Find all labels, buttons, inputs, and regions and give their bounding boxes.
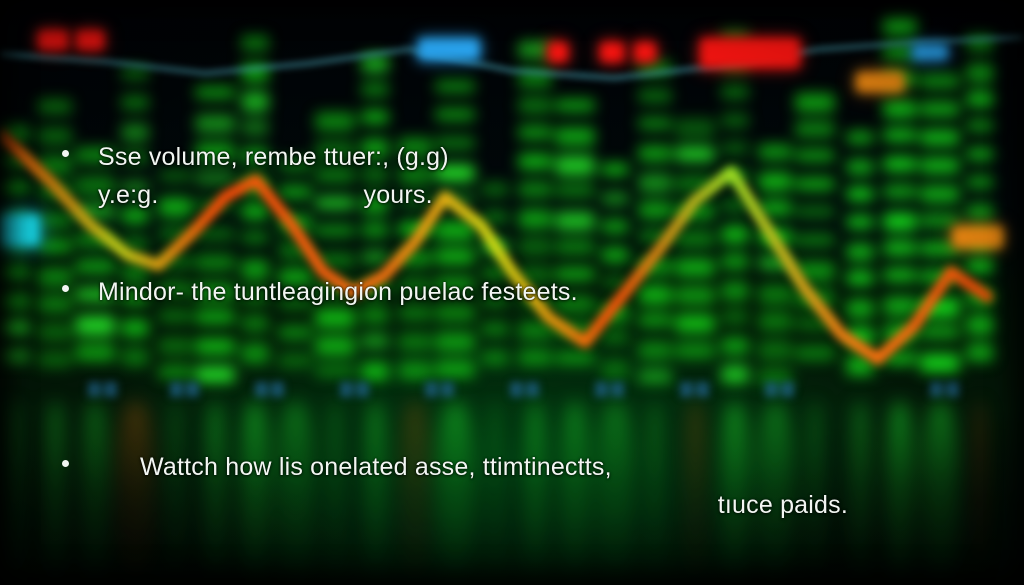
- bullet-text-1: Sse volume, rembe ttuer:, (g.g) y.e:g.yo…: [98, 138, 622, 214]
- bullet-marker-icon: [62, 460, 69, 467]
- slide-canvas: Sse volume, rembe ttuer:, (g.g) y.e:g.yo…: [0, 0, 1024, 585]
- bullet-1-line-2-right: yours.: [364, 181, 433, 209]
- bullet-marker-icon: [62, 285, 69, 292]
- bullet-3-line-2: tıuce paids.: [140, 486, 862, 524]
- bullet-text-3: Wattch how lis onelated asse, ttimtinect…: [140, 448, 862, 524]
- bullet-list: Sse volume, rembe ttuer:, (g.g) y.e:g.yo…: [0, 0, 1024, 585]
- bullet-item-2: Mindor- the tuntleagingion puelac festee…: [62, 273, 822, 311]
- bullet-3-line-1: Wattch how lis onelated asse, ttimtinect…: [140, 448, 862, 486]
- bullet-2-line-1: Mindor- the tuntleagingion puelac festee…: [98, 273, 822, 311]
- bullet-1-line-2-left: y.e:g.: [98, 181, 159, 209]
- bullet-marker-icon: [62, 150, 69, 157]
- bullet-1-line-2: y.e:g.yours.: [98, 176, 622, 214]
- bullet-item-1: Sse volume, rembe ttuer:, (g.g) y.e:g.yo…: [62, 138, 622, 214]
- bullet-item-3: Wattch how lis onelated asse, ttimtinect…: [62, 448, 862, 524]
- bullet-text-2: Mindor- the tuntleagingion puelac festee…: [98, 273, 822, 311]
- bullet-1-line-1: Sse volume, rembe ttuer:, (g.g): [98, 138, 622, 176]
